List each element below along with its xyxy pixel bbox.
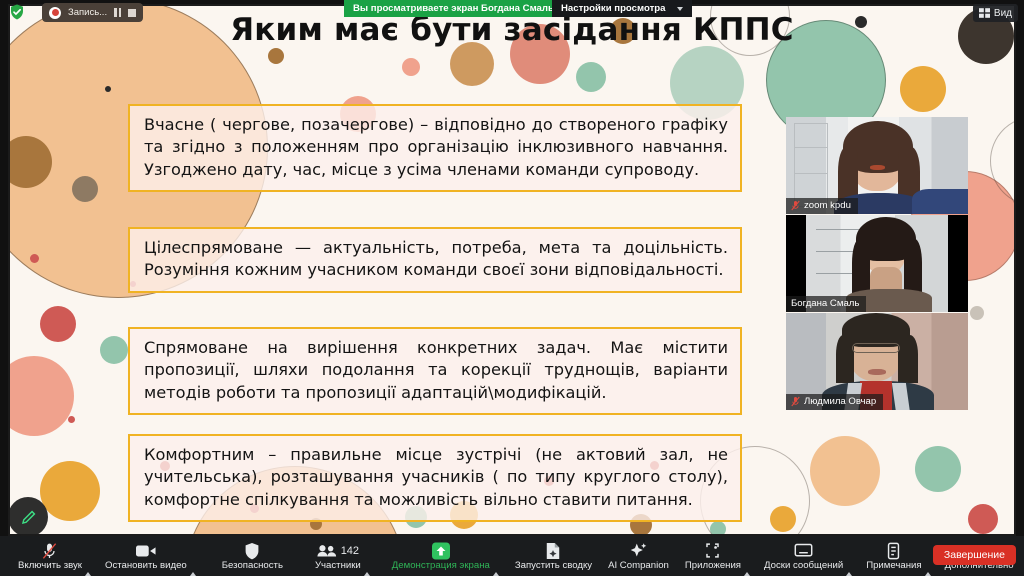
apps-options-caret[interactable] bbox=[743, 536, 756, 576]
security-label: Безопасность bbox=[222, 561, 283, 571]
chevron-down-icon bbox=[677, 7, 683, 11]
recording-shield-icon bbox=[8, 3, 26, 21]
microphone-muted-icon bbox=[41, 542, 58, 560]
summary-button[interactable]: Запустить сводку bbox=[513, 536, 594, 576]
participant-name-label: Людмила Овчар bbox=[786, 394, 883, 410]
deco-circle bbox=[100, 336, 128, 364]
shield-icon bbox=[244, 542, 260, 560]
stop-video-label: Остановить видео bbox=[105, 561, 187, 571]
view-settings-button[interactable]: Настройки просмотра bbox=[552, 0, 692, 17]
whiteboards-button[interactable]: Доски сообщений bbox=[762, 536, 845, 576]
deco-dot bbox=[105, 86, 111, 92]
record-dot-icon bbox=[49, 7, 61, 19]
whiteboards-label: Доски сообщений bbox=[764, 561, 843, 571]
participants-label: Участники bbox=[315, 561, 361, 571]
notes-button[interactable]: Примечания bbox=[864, 536, 923, 576]
view-button[interactable]: Вид bbox=[973, 4, 1018, 22]
apps-label: Приложения bbox=[685, 561, 741, 571]
deco-circle bbox=[968, 504, 998, 534]
share-screen-label: Демонстрация экрана bbox=[392, 561, 490, 571]
view-button-label: Вид bbox=[994, 8, 1012, 19]
participant-name-label: Богдана Смаль bbox=[786, 296, 866, 312]
ai-companion-button[interactable]: AI Companion bbox=[606, 536, 671, 576]
video-camera-icon bbox=[136, 542, 156, 560]
deco-circle bbox=[915, 446, 961, 492]
participant-name: Людмила Овчар bbox=[804, 396, 876, 407]
video-options-caret[interactable] bbox=[189, 536, 202, 576]
deco-circle bbox=[576, 62, 606, 92]
whiteboard-icon bbox=[794, 542, 813, 560]
recording-indicator[interactable]: Запись... bbox=[42, 3, 143, 22]
slide-title: Яким має бути засідання КППС bbox=[10, 12, 1014, 48]
apps-icon bbox=[704, 542, 721, 560]
pen-icon bbox=[19, 508, 38, 527]
deco-circle bbox=[40, 306, 76, 342]
participant-tile[interactable]: Людмила Овчар bbox=[786, 313, 968, 410]
stop-video-button[interactable]: Остановить видео bbox=[103, 536, 189, 576]
deco-dot bbox=[268, 48, 284, 64]
participants-options-caret[interactable] bbox=[363, 536, 376, 576]
end-meeting-button[interactable]: Завершение bbox=[933, 545, 1016, 565]
slide-text-block: Спрямоване на вирішення конкретних задач… bbox=[128, 327, 742, 415]
stop-icon[interactable] bbox=[128, 9, 136, 17]
unmute-button[interactable]: Включить звук bbox=[16, 536, 84, 576]
deco-dot bbox=[30, 254, 39, 263]
participant-tile[interactable]: zoom kpdu bbox=[786, 117, 968, 214]
slide-text-block: Комфортним – правильне місце зустрічі (н… bbox=[128, 434, 742, 522]
ai-companion-label: AI Companion bbox=[608, 561, 669, 571]
summary-label: Запустить сводку bbox=[515, 561, 592, 571]
pause-icon[interactable] bbox=[114, 8, 121, 17]
deco-dot bbox=[970, 306, 984, 320]
participants-count: 142 bbox=[341, 545, 359, 557]
participant-name-label: zoom kpdu bbox=[786, 198, 858, 214]
view-settings-label: Настройки просмотра bbox=[561, 3, 666, 14]
deco-circle bbox=[40, 461, 100, 521]
participant-thumbnail-strip: zoom kpdu Богдана Смаль bbox=[786, 117, 968, 410]
slide-text-block: Цілеспрямоване — актуальність, потреба, … bbox=[128, 227, 742, 293]
deco-circle bbox=[10, 356, 74, 436]
deco-circle bbox=[72, 176, 98, 202]
sparkle-icon bbox=[629, 542, 648, 560]
microphone-muted-icon bbox=[791, 396, 800, 407]
apps-button[interactable]: Приложения bbox=[683, 536, 743, 576]
share-options-caret[interactable] bbox=[492, 536, 505, 576]
whiteboards-options-caret[interactable] bbox=[845, 536, 858, 576]
document-sparkle-icon bbox=[545, 542, 561, 560]
recording-label: Запись... bbox=[68, 7, 107, 18]
people-icon: 142 bbox=[317, 542, 359, 560]
security-button[interactable]: Безопасность bbox=[220, 536, 285, 576]
participant-tile[interactable]: Богдана Смаль bbox=[786, 215, 968, 312]
deco-circle bbox=[450, 42, 494, 86]
notes-label: Примечания bbox=[866, 561, 921, 571]
participant-name: zoom kpdu bbox=[804, 200, 851, 211]
deco-dot bbox=[68, 416, 75, 423]
audio-options-caret[interactable] bbox=[84, 536, 97, 576]
slide-text-block: Вчасне ( чергове, позачергове) – відпові… bbox=[128, 104, 742, 192]
unmute-label: Включить звук bbox=[18, 561, 82, 571]
deco-circle bbox=[810, 436, 880, 506]
participants-button[interactable]: 142 Участники bbox=[313, 536, 363, 576]
zoom-meeting-window: Яким має бути засідання КППС Вчасне ( че… bbox=[0, 0, 1024, 576]
grid-view-icon bbox=[979, 8, 990, 18]
microphone-muted-icon bbox=[791, 200, 800, 211]
annotate-button[interactable] bbox=[8, 497, 48, 537]
notes-icon bbox=[886, 542, 901, 560]
deco-dot bbox=[402, 58, 420, 76]
share-screen-up-arrow-icon bbox=[430, 542, 452, 560]
deco-circle bbox=[900, 66, 946, 112]
participant-name: Богдана Смаль bbox=[791, 298, 859, 309]
share-screen-button[interactable]: Демонстрация экрана bbox=[390, 536, 492, 576]
meeting-toolbar: Включить звук Остановить видео Безопасно… bbox=[0, 536, 1024, 576]
viewing-screen-banner: Вы просматриваете экран Богдана Смаль bbox=[344, 0, 563, 17]
